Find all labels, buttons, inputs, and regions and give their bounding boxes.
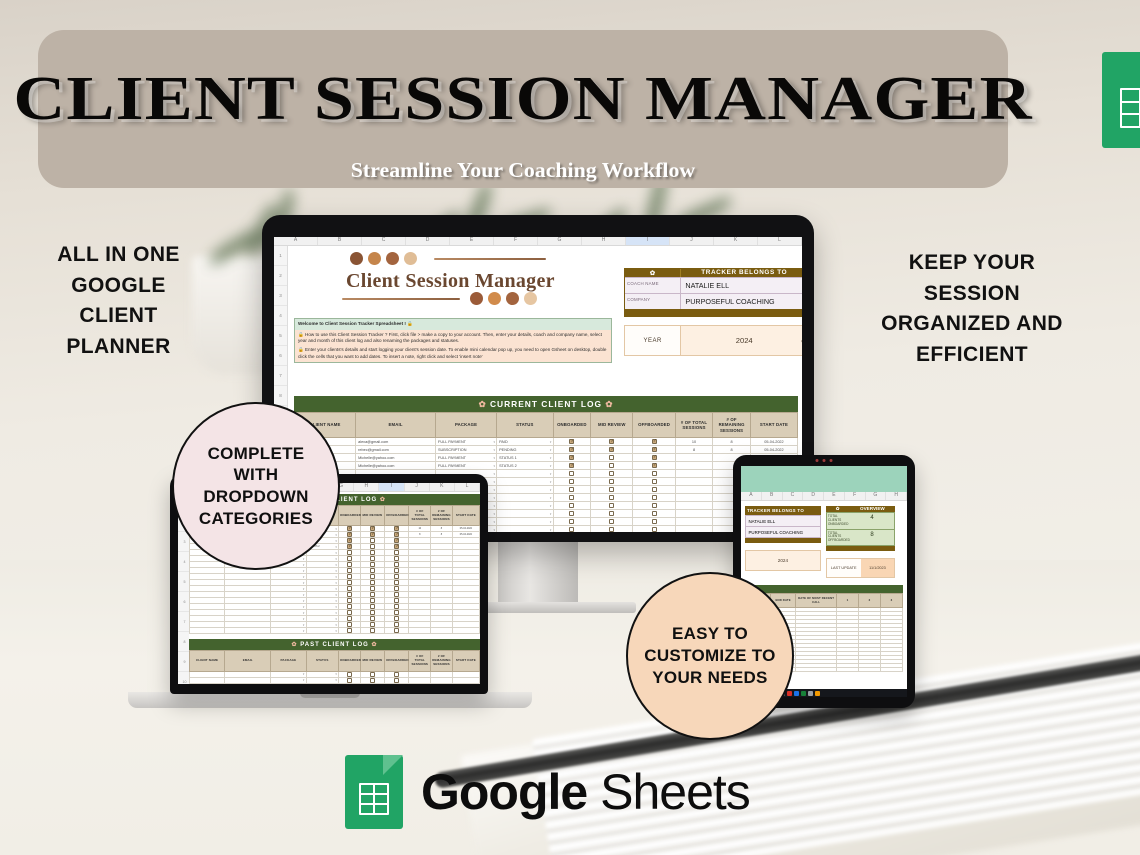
column-header-onboarded[interactable]: ONBOARDED <box>553 413 591 438</box>
cell-remaining-sessions[interactable]: 8 <box>713 438 751 446</box>
checkbox[interactable] <box>347 532 352 537</box>
badge-dropdown-categories: COMPLETE WITH DROPDOWN CATEGORIES <box>172 402 340 570</box>
cell-onboarded[interactable] <box>553 438 591 446</box>
tablet-last-update-value: 11/1/2023 <box>861 559 895 577</box>
column-header-e[interactable]: E <box>824 492 845 500</box>
checkbox[interactable] <box>569 495 574 500</box>
laptop-past-log-table[interactable]: CLIENT NAMEEMAILPACKAGESTATUSONBOARDEDMI… <box>189 650 480 683</box>
welcome-paragraph-2: 🔒 Enter your clients's details and start… <box>298 347 608 360</box>
checkbox[interactable] <box>394 526 399 531</box>
column-header-h[interactable]: H <box>354 483 379 491</box>
column-header-h[interactable]: H <box>886 492 907 500</box>
cell-package[interactable]: SUBSCRIPTION <box>436 446 497 454</box>
cell-mid-review[interactable] <box>591 446 633 454</box>
cell-empty-checkbox[interactable] <box>339 677 361 683</box>
column-header-email[interactable]: EMAIL <box>225 651 271 671</box>
cell-status[interactable]: STATUS 1 <box>497 454 553 462</box>
tablet-year-value[interactable]: 2024 <box>745 550 821 571</box>
table-row: COMPANY PURPOSEFUL COACHING <box>625 293 802 309</box>
cell-empty[interactable] <box>675 502 713 510</box>
checkbox[interactable] <box>652 447 657 452</box>
laptop-past-log-title: PAST CLIENT LOG <box>300 642 369 648</box>
checkbox[interactable] <box>370 532 375 537</box>
column-header-offboarded[interactable]: OFFBOARDED <box>385 506 409 526</box>
checkbox[interactable] <box>394 616 399 621</box>
checkbox[interactable] <box>394 550 399 555</box>
year-label: YEAR <box>625 326 681 355</box>
cell-total-sessions[interactable]: 8 <box>675 446 713 454</box>
cell-empty-checkbox[interactable] <box>553 518 591 526</box>
column-header-of-total-sessions[interactable]: # OF TOTAL SESSIONS <box>409 506 431 526</box>
cell-empty[interactable] <box>497 486 553 494</box>
checkbox[interactable] <box>370 628 375 633</box>
cell-empty[interactable] <box>675 494 713 502</box>
checkbox[interactable] <box>370 544 375 549</box>
cell-status[interactable]: STATUS 2 <box>497 462 553 470</box>
cell-empty[interactable] <box>859 668 881 672</box>
checkbox[interactable] <box>394 622 399 627</box>
cell-mid-review[interactable] <box>591 454 633 462</box>
row-header-4[interactable]: 4 <box>274 306 287 326</box>
checkbox[interactable] <box>347 586 352 591</box>
column-header-j[interactable]: J <box>405 483 430 491</box>
table-row: Michelle@yahoo.comFULL PAYMENTSTATUS 1 <box>295 454 798 462</box>
tablet-column-header-bar[interactable]: ABCDEFGH <box>741 492 907 501</box>
checkbox[interactable] <box>652 463 657 468</box>
overview-label-onboarded: TOTAL CLIENTS ONBOARDED <box>827 513 850 529</box>
checkbox[interactable] <box>347 550 352 555</box>
cell-empty-checkbox[interactable] <box>633 494 675 502</box>
tablet-column-header-2[interactable]: 2 <box>859 594 881 608</box>
cell-empty-checkbox[interactable] <box>553 510 591 518</box>
google-sheets-icon <box>1102 52 1140 153</box>
cell-package[interactable]: FULL PAYMENT <box>436 438 497 446</box>
column-header-of-remaining-sessions[interactable]: # OF REMAINING SESSIONS <box>431 506 453 526</box>
checkbox[interactable] <box>652 455 657 460</box>
column-header-onboarded[interactable]: ONBOARDED <box>339 506 361 526</box>
tablet-app-header <box>741 466 907 492</box>
tablet-column-header-date-of-most-recent-call[interactable]: DATE OF MOST RECENT CALL <box>796 594 837 608</box>
column-header-a[interactable]: A <box>274 237 318 245</box>
welcome-paragraph-1: 🔒 How to use this Client Session Tracker… <box>298 332 608 345</box>
checkbox[interactable] <box>652 511 657 516</box>
google-sheets-logo: Google Sheets <box>345 755 750 829</box>
cell-package[interactable]: FULL PAYMENT <box>436 462 497 470</box>
cell-offboarded[interactable] <box>633 446 675 454</box>
decor-dot-1 <box>350 252 363 265</box>
checkbox[interactable] <box>394 544 399 549</box>
cell-empty[interactable] <box>271 628 306 634</box>
checkbox[interactable] <box>569 519 574 524</box>
cell-empty[interactable] <box>306 628 339 634</box>
cell-empty[interactable] <box>225 677 271 683</box>
cell-empty[interactable] <box>497 494 553 502</box>
checkbox[interactable] <box>394 604 399 609</box>
cell-empty-checkbox[interactable] <box>591 494 633 502</box>
row-header-5[interactable]: 5 <box>274 326 287 346</box>
cell-empty[interactable] <box>675 518 713 526</box>
cell-empty-checkbox[interactable] <box>553 478 591 486</box>
column-header-start-date[interactable]: START DATE <box>452 506 479 526</box>
column-header-c[interactable]: C <box>783 492 804 500</box>
cell-empty-checkbox[interactable] <box>553 486 591 494</box>
table-row: TOTAL CLIENTS OFFBOARDED 8 <box>826 530 896 547</box>
cell-empty-checkbox[interactable] <box>633 502 675 510</box>
column-header-c[interactable]: C <box>362 237 406 245</box>
column-header-onboarded[interactable]: ONBOARDED <box>339 651 361 671</box>
cell-empty[interactable] <box>452 628 479 634</box>
column-header-l[interactable]: L <box>455 483 480 491</box>
column-header-status[interactable]: STATUS <box>306 651 339 671</box>
taskbar-app-icon-9[interactable] <box>801 691 806 696</box>
checkbox[interactable] <box>394 598 399 603</box>
checkbox[interactable] <box>394 678 399 683</box>
checkbox[interactable] <box>569 471 574 476</box>
cell-empty-checkbox[interactable] <box>591 510 633 518</box>
cell-empty[interactable] <box>497 510 553 518</box>
taskbar-app-icon-10[interactable] <box>808 691 813 696</box>
coach-name-value[interactable]: NATALIE ELL <box>681 278 802 293</box>
tablet-overview-header: OVERVIEW <box>849 506 895 512</box>
welcome-info-box: Welcome to Client Session Tracker Spread… <box>294 318 612 363</box>
cell-empty[interactable] <box>497 518 553 526</box>
column-header-email[interactable]: EMAIL <box>356 413 436 438</box>
cell-empty[interactable] <box>497 526 553 532</box>
checkbox[interactable] <box>652 479 657 484</box>
column-header-d[interactable]: D <box>803 492 824 500</box>
checkbox[interactable] <box>394 556 399 561</box>
column-header-mid-review[interactable]: MID REVIEW <box>360 506 384 526</box>
checkbox[interactable] <box>370 586 375 591</box>
cell-empty[interactable] <box>452 677 479 683</box>
checkbox[interactable] <box>394 532 399 537</box>
column-header-f[interactable]: F <box>494 237 538 245</box>
cell-empty[interactable] <box>880 668 902 672</box>
checkbox[interactable] <box>609 503 614 508</box>
cell-empty-checkbox[interactable] <box>633 510 675 518</box>
cell-empty-checkbox[interactable] <box>633 486 675 494</box>
google-sheets-icon <box>345 755 403 829</box>
cell-empty-checkbox[interactable] <box>591 502 633 510</box>
cell-onboarded[interactable] <box>553 446 591 454</box>
checkbox[interactable] <box>347 592 352 597</box>
cell-empty[interactable] <box>796 668 837 672</box>
cell-onboarded[interactable] <box>553 454 591 462</box>
cell-total-sessions[interactable] <box>675 462 713 470</box>
taskbar-app-icon-8[interactable] <box>794 691 799 696</box>
cell-empty-checkbox[interactable] <box>591 526 633 532</box>
tablet-coach-name[interactable]: NATALIE ELL <box>745 515 821 527</box>
checkbox[interactable] <box>370 568 375 573</box>
cell-empty-checkbox[interactable] <box>633 470 675 478</box>
checkbox[interactable] <box>609 439 614 444</box>
cell-total-sessions[interactable]: 10 <box>675 438 713 446</box>
checkbox[interactable] <box>370 622 375 627</box>
cell-empty[interactable] <box>271 677 306 683</box>
checkbox[interactable] <box>394 580 399 585</box>
checkbox[interactable] <box>347 616 352 621</box>
checkbox[interactable] <box>609 455 614 460</box>
checkbox[interactable] <box>609 511 614 516</box>
decor-rule-top <box>434 258 546 260</box>
cell-empty[interactable] <box>431 628 453 634</box>
checkbox[interactable] <box>569 511 574 516</box>
column-header-of-remaining-sessions[interactable]: # OF REMAINING SESSIONS <box>431 651 453 671</box>
cell-empty[interactable] <box>675 478 713 486</box>
table-header-row: CLIENT NAMEEMAILPACKAGESTATUSONBOARDEDMI… <box>190 651 480 671</box>
checkbox[interactable] <box>652 527 657 532</box>
checkbox[interactable] <box>370 610 375 615</box>
row-header-2[interactable]: 2 <box>274 266 287 286</box>
checkbox[interactable] <box>652 471 657 476</box>
column-header-offboarded[interactable]: OFFBOARDED <box>385 651 409 671</box>
checkbox[interactable] <box>370 580 375 585</box>
overview-label-offboarded: TOTAL CLIENTS OFFBOARDED <box>827 530 850 546</box>
cell-email[interactable]: Michelle@yahoo.com <box>356 462 436 470</box>
cell-empty-checkbox[interactable] <box>339 628 361 634</box>
overview-value-onboarded: 4 <box>850 513 895 529</box>
column-header-g[interactable]: G <box>866 492 887 500</box>
checkbox[interactable] <box>370 616 375 621</box>
cell-mid-review[interactable] <box>591 438 633 446</box>
checkbox[interactable] <box>370 604 375 609</box>
tablet-log-band <box>745 585 903 593</box>
checkbox[interactable] <box>370 574 375 579</box>
cell-empty-checkbox[interactable] <box>553 494 591 502</box>
cell-empty[interactable] <box>190 628 225 634</box>
row-header-3[interactable]: 3 <box>274 286 287 306</box>
column-header-j[interactable]: J <box>670 237 714 245</box>
checkbox[interactable] <box>569 463 574 468</box>
checkbox[interactable] <box>347 628 352 633</box>
cell-empty-checkbox[interactable] <box>553 502 591 510</box>
column-header-i[interactable]: I <box>626 237 670 245</box>
table-row: TOTAL CLIENTS ONBOARDED 4 <box>826 512 896 530</box>
checkbox[interactable] <box>569 447 574 452</box>
column-header-a[interactable]: A <box>741 492 762 500</box>
checkbox[interactable] <box>609 495 614 500</box>
checkbox[interactable] <box>347 604 352 609</box>
checkbox[interactable] <box>569 439 574 444</box>
checkbox[interactable] <box>347 580 352 585</box>
checkbox[interactable] <box>569 455 574 460</box>
column-header-status[interactable]: STATUS <box>497 413 553 438</box>
logo-brand: Google <box>421 764 587 820</box>
checkbox[interactable] <box>652 503 657 508</box>
checkbox[interactable] <box>347 574 352 579</box>
column-header-h[interactable]: H <box>582 237 626 245</box>
checkbox[interactable] <box>370 598 375 603</box>
column-header-start-date[interactable]: START DATE <box>750 413 797 438</box>
checkbox[interactable] <box>569 487 574 492</box>
cell-empty[interactable] <box>431 677 453 683</box>
cell-empty-checkbox[interactable] <box>591 478 633 486</box>
column-header-k[interactable]: K <box>430 483 455 491</box>
checkbox[interactable] <box>370 678 375 683</box>
cell-empty-checkbox[interactable] <box>633 518 675 526</box>
checkbox[interactable] <box>652 487 657 492</box>
column-header-b[interactable]: B <box>762 492 783 500</box>
checkbox[interactable] <box>347 598 352 603</box>
checkbox[interactable] <box>370 538 375 543</box>
cell-empty[interactable] <box>675 486 713 494</box>
cell-offboarded[interactable] <box>633 438 675 446</box>
cell-remaining-sessions[interactable]: 8 <box>713 446 751 454</box>
checkbox[interactable] <box>394 586 399 591</box>
cell-empty-checkbox[interactable] <box>591 470 633 478</box>
column-header-package[interactable]: PACKAGE <box>436 413 497 438</box>
column-header-mid-review[interactable]: MID REVIEW <box>591 413 633 438</box>
checkbox[interactable] <box>347 622 352 627</box>
cell-empty[interactable] <box>675 510 713 518</box>
column-header-e[interactable]: E <box>450 237 494 245</box>
checkbox[interactable] <box>609 463 614 468</box>
cell-empty-checkbox[interactable] <box>385 677 409 683</box>
column-header-mid-review[interactable]: MID REVIEW <box>360 651 384 671</box>
checkbox[interactable] <box>370 562 375 567</box>
column-header-k[interactable]: K <box>714 237 758 245</box>
cell-empty-checkbox[interactable] <box>553 526 591 532</box>
cell-empty[interactable] <box>675 526 713 532</box>
column-header-l[interactable]: L <box>758 237 802 245</box>
checkbox[interactable] <box>370 550 375 555</box>
checkbox[interactable] <box>347 526 352 531</box>
decor-dot-1 <box>470 292 483 305</box>
cell-empty-checkbox[interactable] <box>553 470 591 478</box>
cell-empty[interactable] <box>225 628 271 634</box>
checkbox[interactable] <box>394 610 399 615</box>
checkbox[interactable] <box>569 479 574 484</box>
taskbar-app-icon-11[interactable] <box>815 691 820 696</box>
checkbox[interactable] <box>609 527 614 532</box>
cell-empty-checkbox[interactable] <box>385 628 409 634</box>
checkbox[interactable] <box>394 538 399 543</box>
decor-dots-top <box>350 252 417 265</box>
column-header-f[interactable]: F <box>845 492 866 500</box>
checkbox[interactable] <box>609 471 614 476</box>
row-header-7[interactable]: 7 <box>274 366 287 386</box>
checkbox[interactable] <box>652 439 657 444</box>
checkbox[interactable] <box>370 526 375 531</box>
cell-empty-checkbox[interactable] <box>633 526 675 532</box>
cell-empty-checkbox[interactable] <box>633 478 675 486</box>
column-header-i[interactable]: I <box>379 483 404 491</box>
checkbox[interactable] <box>394 672 399 677</box>
checkbox[interactable] <box>347 562 352 567</box>
cell-total-sessions[interactable] <box>675 454 713 462</box>
cell-empty-checkbox[interactable] <box>360 628 384 634</box>
tablet-column-header-3[interactable]: 3 <box>880 594 902 608</box>
checkbox[interactable] <box>347 544 352 549</box>
column-header-d[interactable]: D <box>406 237 450 245</box>
column-header-offboarded[interactable]: OFFBOARDED <box>633 413 675 438</box>
cell-status[interactable]: PENDING <box>497 446 553 454</box>
overview-badge-icon: ✿ <box>826 506 850 512</box>
checkbox[interactable] <box>394 568 399 573</box>
checkbox[interactable] <box>347 610 352 615</box>
cell-empty-checkbox[interactable] <box>591 486 633 494</box>
column-header-b[interactable]: B <box>318 237 362 245</box>
welcome-heading: Welcome to Client Session Tracker Spread… <box>295 319 611 330</box>
column-header-start-date[interactable]: START DATE <box>452 651 479 671</box>
checkbox[interactable] <box>394 628 399 633</box>
year-value[interactable]: 2024 <box>681 326 802 355</box>
column-header-of-remaining-sessions[interactable]: # OF REMAINING SESSIONS <box>713 413 751 438</box>
cell-email[interactable]: Michelle@yahoo.com <box>356 454 436 462</box>
checkbox[interactable] <box>347 538 352 543</box>
cell-empty[interactable] <box>497 502 553 510</box>
checkbox[interactable] <box>652 495 657 500</box>
cell-empty[interactable] <box>409 628 431 634</box>
row-header-8[interactable]: 8 <box>274 386 287 406</box>
row-header-1[interactable]: 1 <box>274 246 287 266</box>
checkbox[interactable] <box>609 447 614 452</box>
checkbox[interactable] <box>370 672 375 677</box>
company-value[interactable]: PURPOSEFUL COACHING <box>681 294 802 309</box>
cell-offboarded[interactable] <box>633 462 675 470</box>
column-header-of-total-sessions[interactable]: # OF TOTAL SESSIONS <box>409 651 431 671</box>
cell-empty[interactable] <box>497 470 553 478</box>
cell-empty[interactable] <box>497 478 553 486</box>
cell-onboarded[interactable] <box>553 462 591 470</box>
checkbox[interactable] <box>347 556 352 561</box>
column-header-package[interactable]: PACKAGE <box>271 651 306 671</box>
tablet-company[interactable]: PURPOSEFUL COACHING <box>745 527 821 538</box>
checkbox[interactable] <box>370 556 375 561</box>
checkbox[interactable] <box>347 672 352 677</box>
decor-dot-4 <box>524 292 537 305</box>
cell-email[interactable]: rebec@gmail.com <box>356 446 436 454</box>
column-header-bar[interactable]: ABCDEFGHIJKL <box>274 237 802 246</box>
column-header-g[interactable]: G <box>538 237 582 245</box>
cell-status[interactable]: PAID <box>497 438 553 446</box>
checkbox[interactable] <box>370 592 375 597</box>
row-header-6[interactable]: 6 <box>274 346 287 366</box>
cell-start-date[interactable]: 05-04-2022 <box>750 438 797 446</box>
checkbox[interactable] <box>569 503 574 508</box>
cell-empty[interactable] <box>190 677 225 683</box>
checkbox[interactable] <box>394 592 399 597</box>
belongs-footer-bar <box>625 309 802 316</box>
cell-mid-review[interactable] <box>591 462 633 470</box>
cell-empty[interactable] <box>306 677 339 683</box>
decor-dot-3 <box>386 252 399 265</box>
cell-empty[interactable] <box>409 677 431 683</box>
cell-empty[interactable] <box>675 470 713 478</box>
checkbox[interactable] <box>652 519 657 524</box>
cell-empty[interactable] <box>837 668 859 672</box>
checkbox[interactable] <box>609 487 614 492</box>
column-header-client-name[interactable]: CLIENT NAME <box>190 651 225 671</box>
taskbar-app-icon-7[interactable] <box>787 691 792 696</box>
cell-start-date[interactable]: 05-04-2022 <box>750 446 797 454</box>
cell-empty-checkbox[interactable] <box>591 518 633 526</box>
checkbox[interactable] <box>394 562 399 567</box>
cell-offboarded[interactable] <box>633 454 675 462</box>
checkbox[interactable] <box>394 574 399 579</box>
checkbox[interactable] <box>569 527 574 532</box>
column-header-of-total-sessions[interactable]: # OF TOTAL SESSIONS <box>675 413 713 438</box>
cell-package[interactable]: FULL PAYMENT <box>436 454 497 462</box>
checkbox[interactable] <box>609 479 614 484</box>
cell-empty-checkbox[interactable] <box>360 677 384 683</box>
table-header-row: CLIENT NAMEEMAILPACKAGESTATUSONBOARDEDMI… <box>295 413 798 438</box>
checkbox[interactable] <box>609 519 614 524</box>
checkbox[interactable] <box>347 678 352 683</box>
cell-email[interactable]: alexa@gmail.com <box>356 438 436 446</box>
tablet-column-header-1[interactable]: 1 <box>837 594 859 608</box>
checkbox[interactable] <box>347 568 352 573</box>
